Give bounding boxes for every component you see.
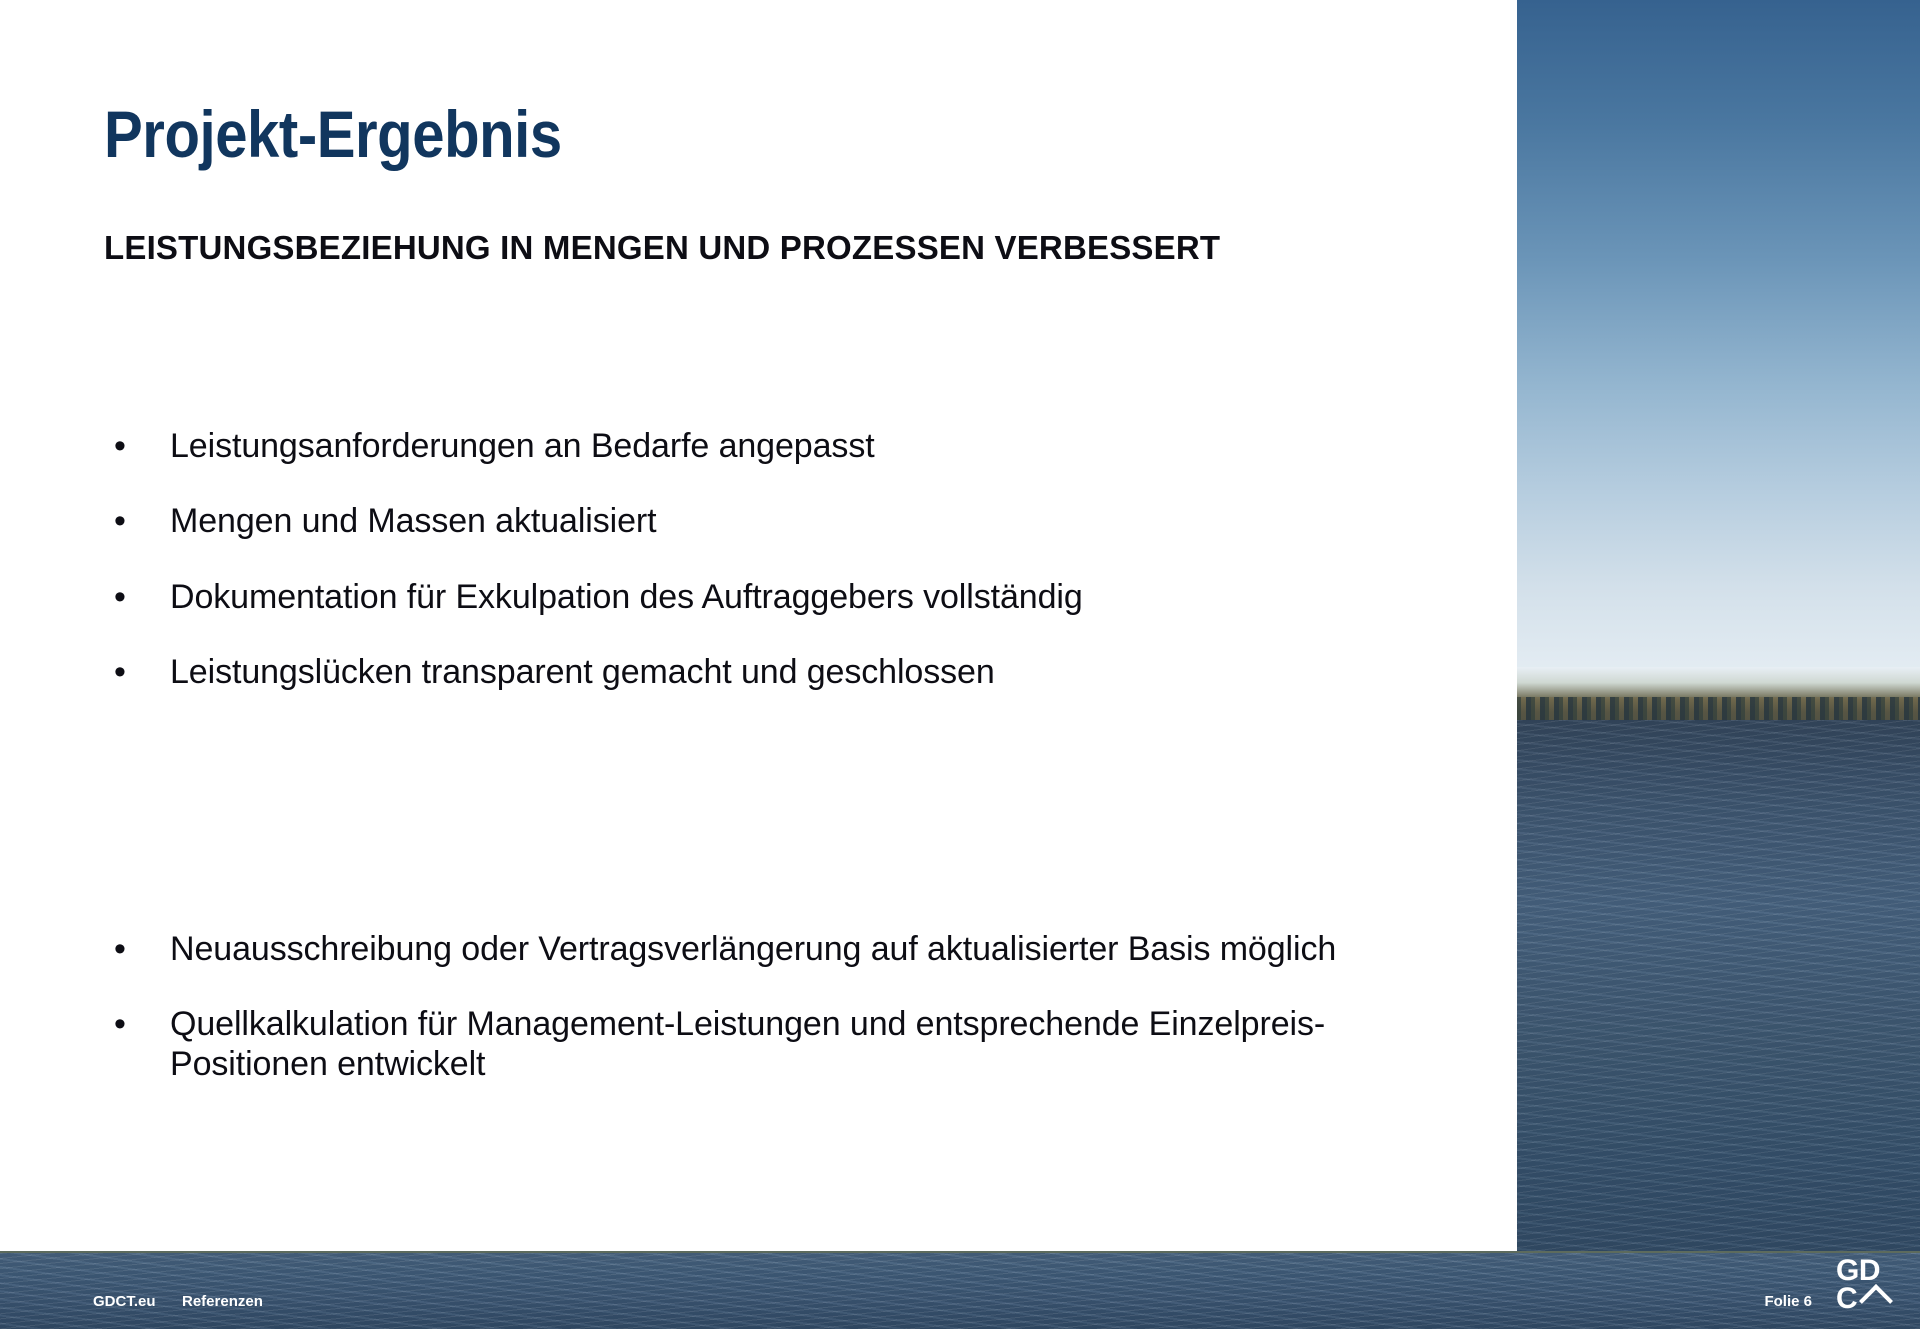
- gdc-logo: GD C: [1836, 1257, 1908, 1323]
- bullet-group-primary: • Leistungsanforderungen an Bedarfe ange…: [104, 427, 1464, 729]
- bullet-point-icon: •: [104, 653, 170, 692]
- list-item-label: Neuausschreibung oder Vertragsverlängeru…: [170, 930, 1464, 969]
- list-item-label: Quellkalkulation für Management-Leistung…: [170, 1005, 1464, 1084]
- footer-divider: [0, 1251, 1920, 1253]
- list-item: • Leistungsanforderungen an Bedarfe ange…: [104, 427, 1464, 466]
- bullet-point-icon: •: [104, 930, 170, 969]
- bullet-group-secondary: • Neuausschreibung oder Vertragsverlänge…: [104, 930, 1464, 1120]
- gdc-logo-line1: GD: [1836, 1257, 1908, 1285]
- page-subtitle: LEISTUNGSBEZIEHUNG IN MENGEN UND PROZESS…: [104, 229, 1220, 267]
- list-item-label: Dokumentation für Exkulpation des Auftra…: [170, 578, 1464, 617]
- list-item-label: Leistungslücken transparent gemacht und …: [170, 653, 1464, 692]
- photo-sky-region: [1517, 0, 1920, 684]
- footer-page-number: Folie 6: [1764, 1293, 1812, 1310]
- footer-section-label: Referenzen: [182, 1293, 263, 1310]
- page-title: Projekt-Ergebnis: [104, 96, 562, 172]
- bullet-point-icon: •: [104, 1005, 170, 1044]
- bullet-point-icon: •: [104, 427, 170, 466]
- list-item: • Neuausschreibung oder Vertragsverlänge…: [104, 930, 1464, 969]
- list-item-label: Mengen und Massen aktualisiert: [170, 502, 1464, 541]
- list-item: • Dokumentation für Exkulpation des Auft…: [104, 578, 1464, 617]
- footer-site-label: GDCT.eu: [93, 1293, 156, 1310]
- list-item-label: Leistungsanforderungen an Bedarfe angepa…: [170, 427, 1464, 466]
- slide-canvas: Projekt-Ergebnis LEISTUNGSBEZIEHUNG IN M…: [0, 0, 1920, 1329]
- bullet-point-icon: •: [104, 578, 170, 617]
- decorative-photo-strip: [1517, 0, 1920, 1329]
- list-item: • Mengen und Massen aktualisiert: [104, 502, 1464, 541]
- photo-shoreline-region: [1517, 667, 1920, 723]
- list-item: • Leistungslücken transparent gemacht un…: [104, 653, 1464, 692]
- photo-water-region: [1517, 720, 1920, 1329]
- footer-band: [0, 1253, 1920, 1329]
- bullet-point-icon: •: [104, 502, 170, 541]
- list-item: • Quellkalkulation für Management-Leistu…: [104, 1005, 1464, 1084]
- gdc-logo-line2: C: [1836, 1285, 1908, 1313]
